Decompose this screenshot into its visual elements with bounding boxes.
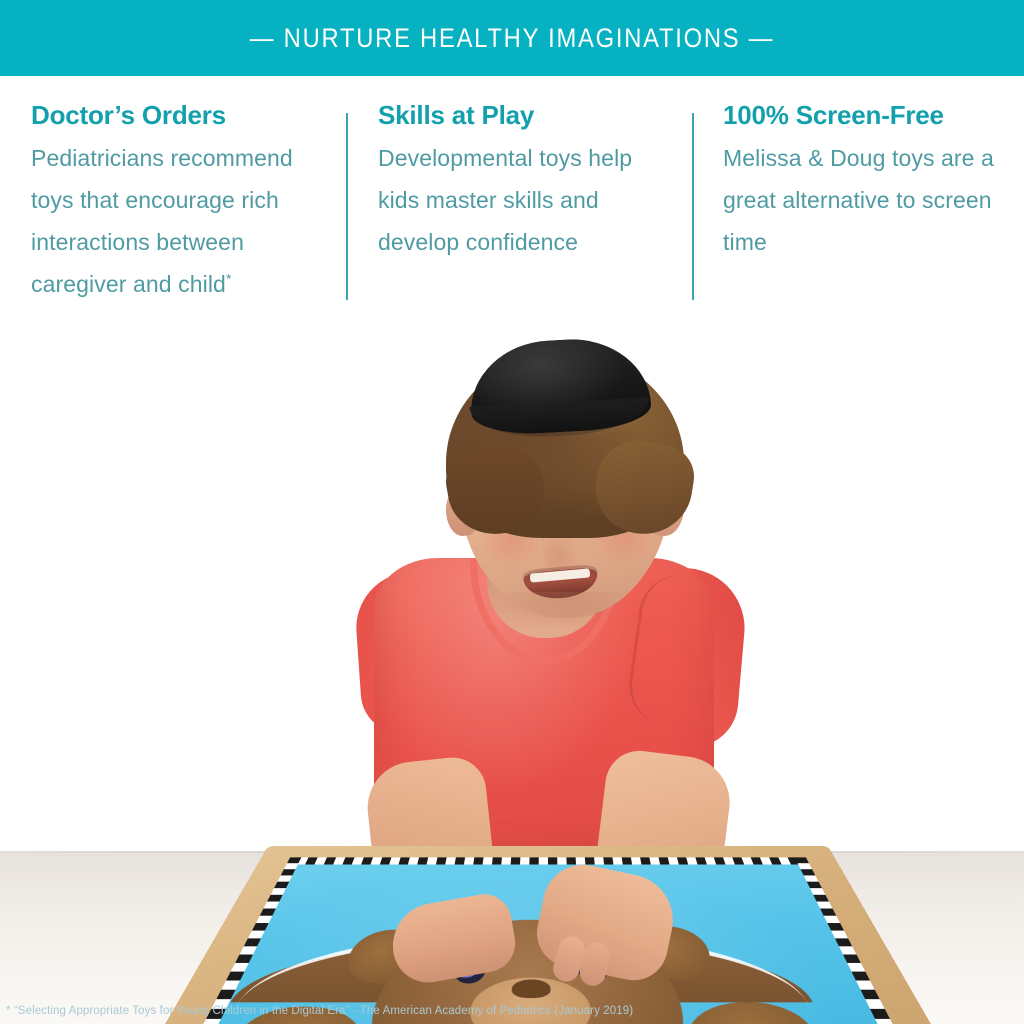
footnote-marker: *	[226, 270, 232, 286]
feature-heading: Skills at Play	[378, 100, 674, 130]
feature-columns: Doctor’s Orders Pediatricians recommend …	[0, 100, 1024, 350]
feature-heading: 100% Screen-Free	[723, 100, 1010, 130]
feature-column-screen-free: 100% Screen-Free Melissa & Doug toys are…	[692, 100, 1024, 350]
header-title: — NURTURE HEALTHY IMAGINATIONS —	[250, 23, 775, 54]
column-divider-2	[692, 113, 694, 300]
feature-body: Developmental toys help kids master skil…	[378, 137, 674, 263]
feature-heading: Doctor’s Orders	[31, 100, 328, 130]
toy-board-group: Snap Lace Button Buckle Zip Snap Lace Bu…	[0, 330, 1024, 1024]
column-divider-1	[346, 113, 348, 300]
product-photo: Snap Lace Button Buckle Zip Snap Lace Bu…	[0, 330, 1024, 1024]
feature-body: Pediatricians recommend toys that encour…	[31, 137, 328, 305]
infographic-page: — NURTURE HEALTHY IMAGINATIONS — Doctor’…	[0, 0, 1024, 1024]
footnote-citation: * “Selecting Appropriate Toys for Young …	[6, 1005, 1016, 1017]
bear-nose	[511, 980, 550, 999]
feature-column-skills-at-play: Skills at Play Developmental toys help k…	[346, 100, 692, 350]
feature-column-doctors-orders: Doctor’s Orders Pediatricians recommend …	[0, 100, 346, 350]
board-checker-top	[286, 857, 809, 864]
header-band: — NURTURE HEALTHY IMAGINATIONS —	[0, 0, 1024, 76]
feature-body-text: Pediatricians recommend toys that encour…	[31, 145, 293, 297]
feature-body: Melissa & Doug toys are a great alternat…	[723, 137, 1010, 263]
